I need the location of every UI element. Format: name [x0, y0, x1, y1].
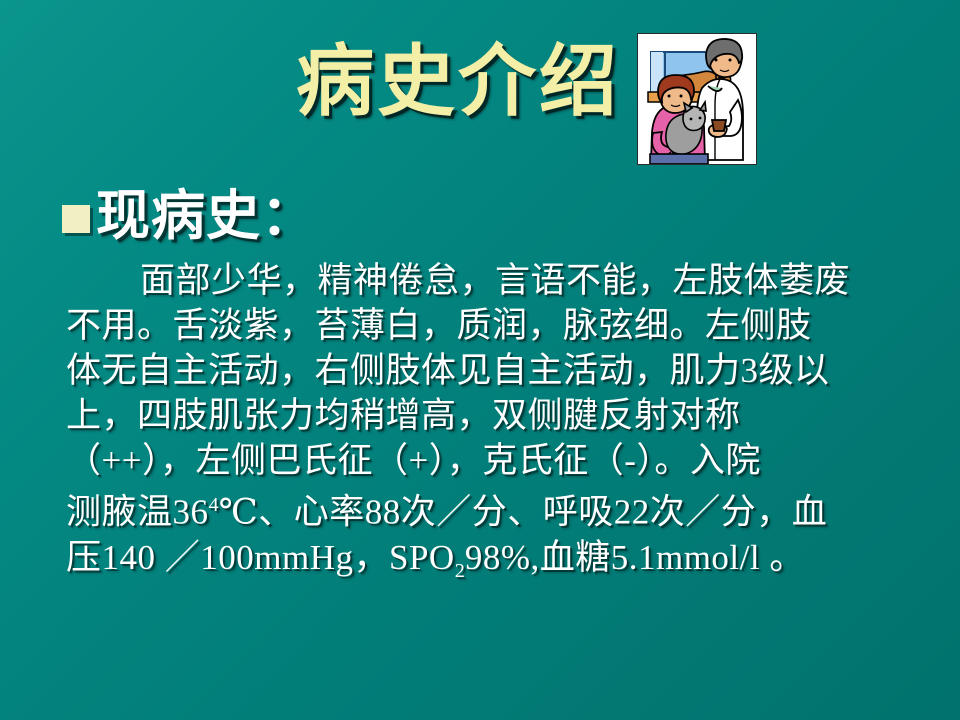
line-6: 测腋温364℃、心率88次／分、呼吸22次／分，血 [66, 483, 906, 535]
line-2: 不用。舌淡紫，苔薄白，质润，脉弦细。左侧肢 [66, 303, 906, 348]
veterinarian-clipart [637, 33, 757, 165]
line-3: 体无自主活动，右侧肢体见自主活动，肌力3级以 [66, 348, 906, 393]
clipart-artwork [638, 34, 756, 164]
line-7: 压140 ／100mmHg，SPO298%,血糖5.1mmol/l 。 [66, 535, 906, 594]
body-paragraph: 面部少华，精神倦怠，言语不能，左肢体萎废 不用。舌淡紫，苔薄白，质润，脉弦细。左… [66, 258, 906, 594]
section-heading: 现病史： [96, 186, 316, 246]
line-4: 上，四肢肌张力均稍增高，双侧腱反射对称 [66, 393, 906, 438]
line-1: 面部少华，精神倦怠，言语不能，左肢体萎废 [66, 258, 906, 303]
square-bullet-icon [62, 205, 90, 233]
page-title: 病史介绍 [0, 34, 620, 130]
heading-row: 现病史： [62, 186, 316, 246]
title-block: 病史介绍 [0, 34, 960, 144]
slide-canvas: 病史介绍 [0, 0, 960, 720]
line-5: （++），左侧巴氏征（+），克氏征（-）。入院 [66, 438, 906, 483]
